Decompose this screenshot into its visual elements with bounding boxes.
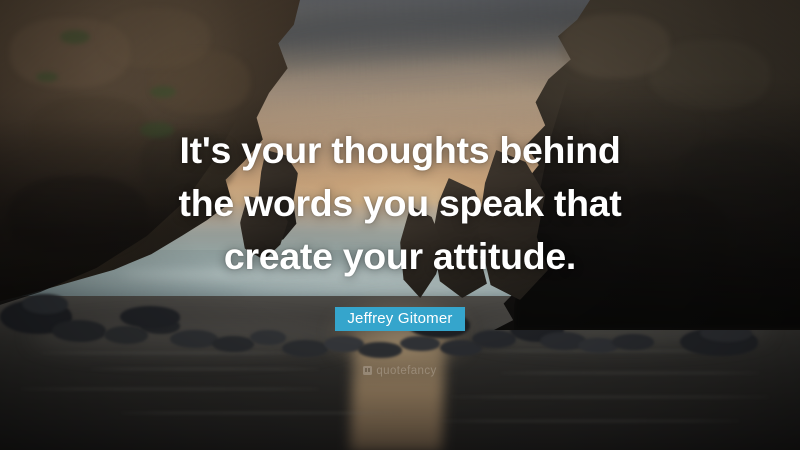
watermark: quotefancy bbox=[0, 362, 800, 380]
beach-rock bbox=[400, 336, 440, 351]
beach-rock bbox=[282, 340, 328, 357]
quote-mark-icon bbox=[363, 366, 372, 375]
author-name-badge[interactable]: Jeffrey Gitomer bbox=[335, 307, 464, 331]
beach-rock bbox=[250, 330, 286, 345]
beach-rock bbox=[170, 330, 218, 348]
cliff-facet bbox=[150, 50, 250, 114]
moss-patch bbox=[60, 30, 90, 44]
beach-rock bbox=[212, 336, 254, 352]
beach-rock bbox=[472, 330, 516, 348]
quote-line-3: create your attitude. bbox=[0, 230, 800, 283]
watermark-label: quotefancy bbox=[376, 365, 436, 377]
watermark-inner: quotefancy bbox=[363, 365, 436, 377]
author-attribution: Jeffrey Gitomer bbox=[0, 307, 800, 331]
quote-line-2: the words you speak that bbox=[0, 177, 800, 230]
quote-wallpaper: It's your thoughts behind the words you … bbox=[0, 0, 800, 450]
beach-rock bbox=[358, 342, 402, 358]
moss-patch bbox=[36, 72, 58, 82]
sand-ripple bbox=[40, 352, 300, 354]
beach-rock bbox=[612, 334, 654, 350]
sand-ripple bbox=[120, 412, 400, 414]
sand-ripple bbox=[20, 388, 320, 390]
quote-text: It's your thoughts behind the words you … bbox=[0, 124, 800, 283]
quote-line-1: It's your thoughts behind bbox=[0, 124, 800, 177]
sand-ripple bbox=[440, 420, 740, 422]
sand-ripple bbox=[450, 396, 770, 398]
moss-patch bbox=[150, 86, 176, 98]
